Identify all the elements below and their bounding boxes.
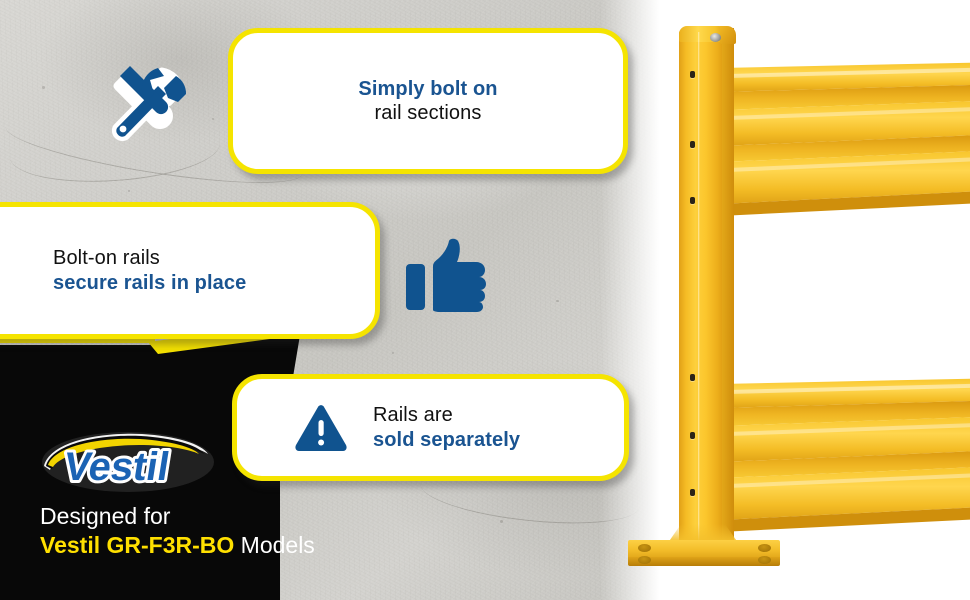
tagline-suffix: Models <box>234 532 315 558</box>
callout-3-line-1: Rails are <box>373 403 520 427</box>
lower-rail-section <box>704 378 970 550</box>
base-anchor-hole <box>638 544 651 552</box>
infographic-canvas: Simply bolt on rail sections Bolt-on rai… <box>0 0 970 600</box>
tagline-model: Vestil GR-F3R-BO <box>40 532 234 558</box>
callout-3-line-2: sold separately <box>373 428 520 452</box>
guardrail-post <box>679 30 727 558</box>
guardrail-product-photo <box>600 0 970 600</box>
callout-1-line-2: rail sections <box>358 101 497 125</box>
callout-2-line-1: Bolt-on rails <box>53 246 246 270</box>
guardrail-post-cap-side <box>720 26 736 44</box>
callout-text-3: Rails are sold separately <box>373 403 520 452</box>
callout-1-line-1: Simply bolt on <box>358 77 497 101</box>
callout-2-line-2: secure rails in place <box>53 271 246 295</box>
post-bolt-hole <box>690 489 695 496</box>
post-bolt-hole <box>690 71 695 78</box>
tools-icon <box>96 54 196 154</box>
post-cap-screw <box>710 33 721 42</box>
tagline-line-2: Vestil GR-F3R-BO Models <box>40 531 315 560</box>
post-bolt-hole <box>690 141 695 148</box>
thumbs-up-icon <box>404 238 490 314</box>
base-anchor-hole <box>758 556 771 564</box>
base-anchor-hole <box>638 556 651 564</box>
callout-text-2: Bolt-on rails secure rails in place <box>53 246 246 295</box>
callout-box-sold-separately[interactable]: Rails are sold separately <box>232 374 629 481</box>
warning-triangle-icon <box>293 403 349 453</box>
post-bolt-hole <box>690 432 695 439</box>
callout-box-bolt-on[interactable]: Simply bolt on rail sections <box>228 28 628 174</box>
guardrail-post-side-face <box>722 28 734 558</box>
callout-box-secure-rails[interactable]: Bolt-on rails secure rails in place <box>0 202 380 339</box>
base-anchor-hole <box>758 544 771 552</box>
post-groove <box>698 32 700 556</box>
post-bolt-hole <box>690 374 695 381</box>
vestil-logo-text: Vestil <box>61 444 173 489</box>
callout-text-1: Simply bolt on rail sections <box>358 77 497 126</box>
post-bolt-hole <box>690 197 695 204</box>
tagline-line-1: Designed for <box>40 502 315 531</box>
tagline: Designed for Vestil GR-F3R-BO Models <box>40 502 315 560</box>
vestil-logo: Vestil Vestil <box>36 432 216 494</box>
upper-rail-section <box>704 62 970 234</box>
